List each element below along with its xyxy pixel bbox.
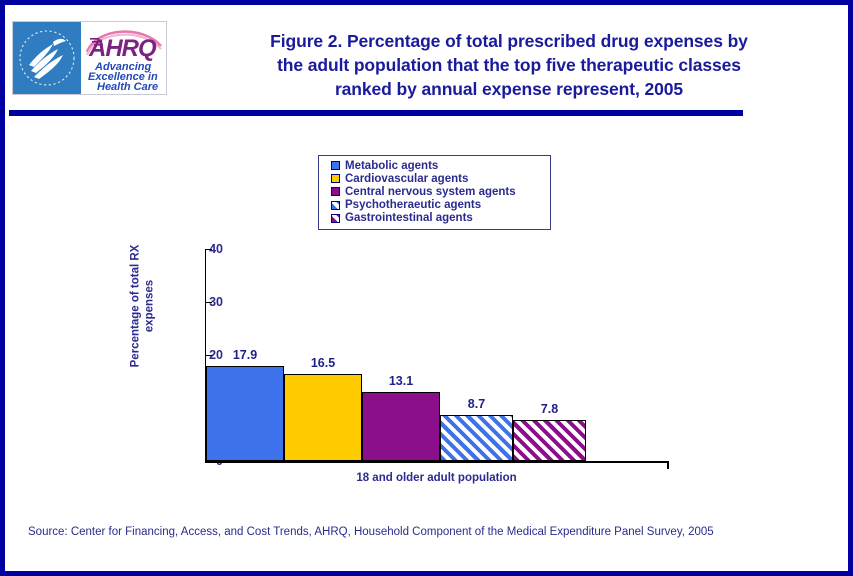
agency-logo-block: AHRQ Advancing Excellence in Health Care	[12, 21, 167, 95]
page-title-line-2: the adult population that the top five t…	[179, 53, 839, 77]
page-title-line-1: Figure 2. Percentage of total prescribed…	[179, 29, 839, 53]
page-title: Figure 2. Percentage of total prescribed…	[179, 29, 839, 101]
plot-area: 17.9 16.5 13.1 8.7 7.8	[206, 249, 668, 461]
legend-item: Gastrointestinal agents	[331, 212, 545, 225]
bar-value-label: 13.1	[362, 375, 440, 388]
page-title-line-3: ranked by annual expense represent, 2005	[179, 77, 839, 101]
y-axis-label-line-2: expenses	[144, 280, 156, 332]
figure-page: AHRQ Advancing Excellence in Health Care	[0, 0, 853, 576]
hhs-seal-icon	[13, 22, 81, 94]
bar-psychotheraeutic-agents[interactable]	[440, 415, 513, 461]
ahrq-logo: AHRQ Advancing Excellence in Health Care	[81, 22, 166, 94]
svg-text:Health Care: Health Care	[97, 81, 158, 93]
bar-cardiovascular-agents[interactable]	[284, 374, 362, 461]
chart-legend: Metabolic agents Cardiovascular agents C…	[318, 155, 551, 230]
header-divider	[9, 110, 743, 116]
legend-swatch-cns	[331, 187, 340, 196]
x-axis-label: 18 and older adult population	[205, 472, 668, 484]
bar-chart: Percentage of total RX expenses 40 30 20…	[110, 240, 710, 500]
x-axis-end-tick	[667, 461, 669, 469]
bar-gastrointestinal-agents[interactable]	[513, 420, 586, 461]
x-axis-line	[205, 461, 668, 463]
bar-value-label: 8.7	[440, 398, 513, 411]
y-axis-label-line-1: Percentage of total RX	[130, 245, 142, 368]
legend-label: Psychotheraeutic agents	[345, 199, 481, 211]
source-note: Source: Center for Financing, Access, an…	[28, 525, 828, 539]
bar-value-label: 7.8	[513, 403, 586, 416]
legend-item: Psychotheraeutic agents	[331, 199, 545, 212]
hhs-seal-logo	[13, 22, 81, 94]
ahrq-wordmark-icon: AHRQ Advancing Excellence in Health Care	[81, 22, 166, 94]
bar-value-label: 17.9	[206, 349, 284, 362]
bar-metabolic-agents[interactable]	[206, 366, 284, 461]
legend-swatch-psychotherapeutic	[331, 201, 340, 210]
legend-swatch-metabolic	[331, 161, 340, 170]
legend-label: Cardiovascular agents	[345, 173, 468, 185]
legend-label: Metabolic agents	[345, 160, 438, 172]
y-axis-label: Percentage of total RX expenses	[129, 219, 157, 394]
bar-central-nervous-system-agents[interactable]	[362, 392, 440, 461]
legend-item: Central nervous system agents	[331, 185, 545, 198]
legend-label: Gastrointestinal agents	[345, 212, 473, 224]
legend-swatch-gastrointestinal	[331, 214, 340, 223]
legend-item: Cardiovascular agents	[331, 172, 545, 185]
legend-swatch-cardiovascular	[331, 174, 340, 183]
legend-item: Metabolic agents	[331, 159, 545, 172]
legend-label: Central nervous system agents	[345, 186, 516, 198]
bar-value-label: 16.5	[284, 357, 362, 370]
header: AHRQ Advancing Excellence in Health Care	[9, 9, 844, 109]
